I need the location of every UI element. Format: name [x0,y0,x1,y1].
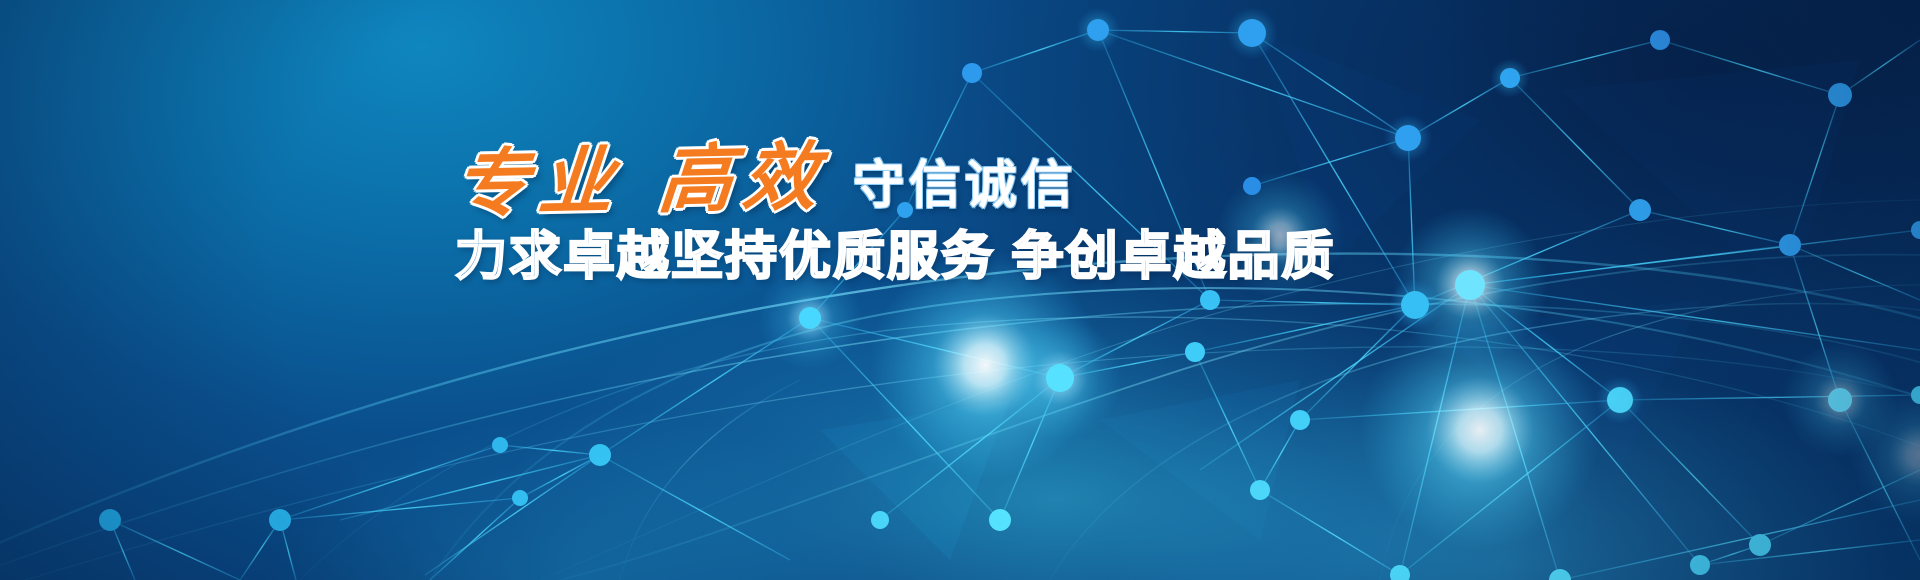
sub-slogan-text: 力求卓越坚持优质服务 争创卓越品质 [455,226,1175,288]
marketing-banner: 专业 高效 守信诚信 力求卓越坚持优质服务 争创卓越品质 [0,0,1920,580]
headline-line-1: 专业 高效 守信诚信 [455,132,1175,218]
background-vignette [0,0,1920,580]
emphasis-slogan-text: 守信诚信 [853,159,1077,218]
headline-block: 专业 高效 守信诚信 力求卓越坚持优质服务 争创卓越品质 [455,132,1175,288]
brush-slogan-text: 专业 高效 [452,140,831,222]
